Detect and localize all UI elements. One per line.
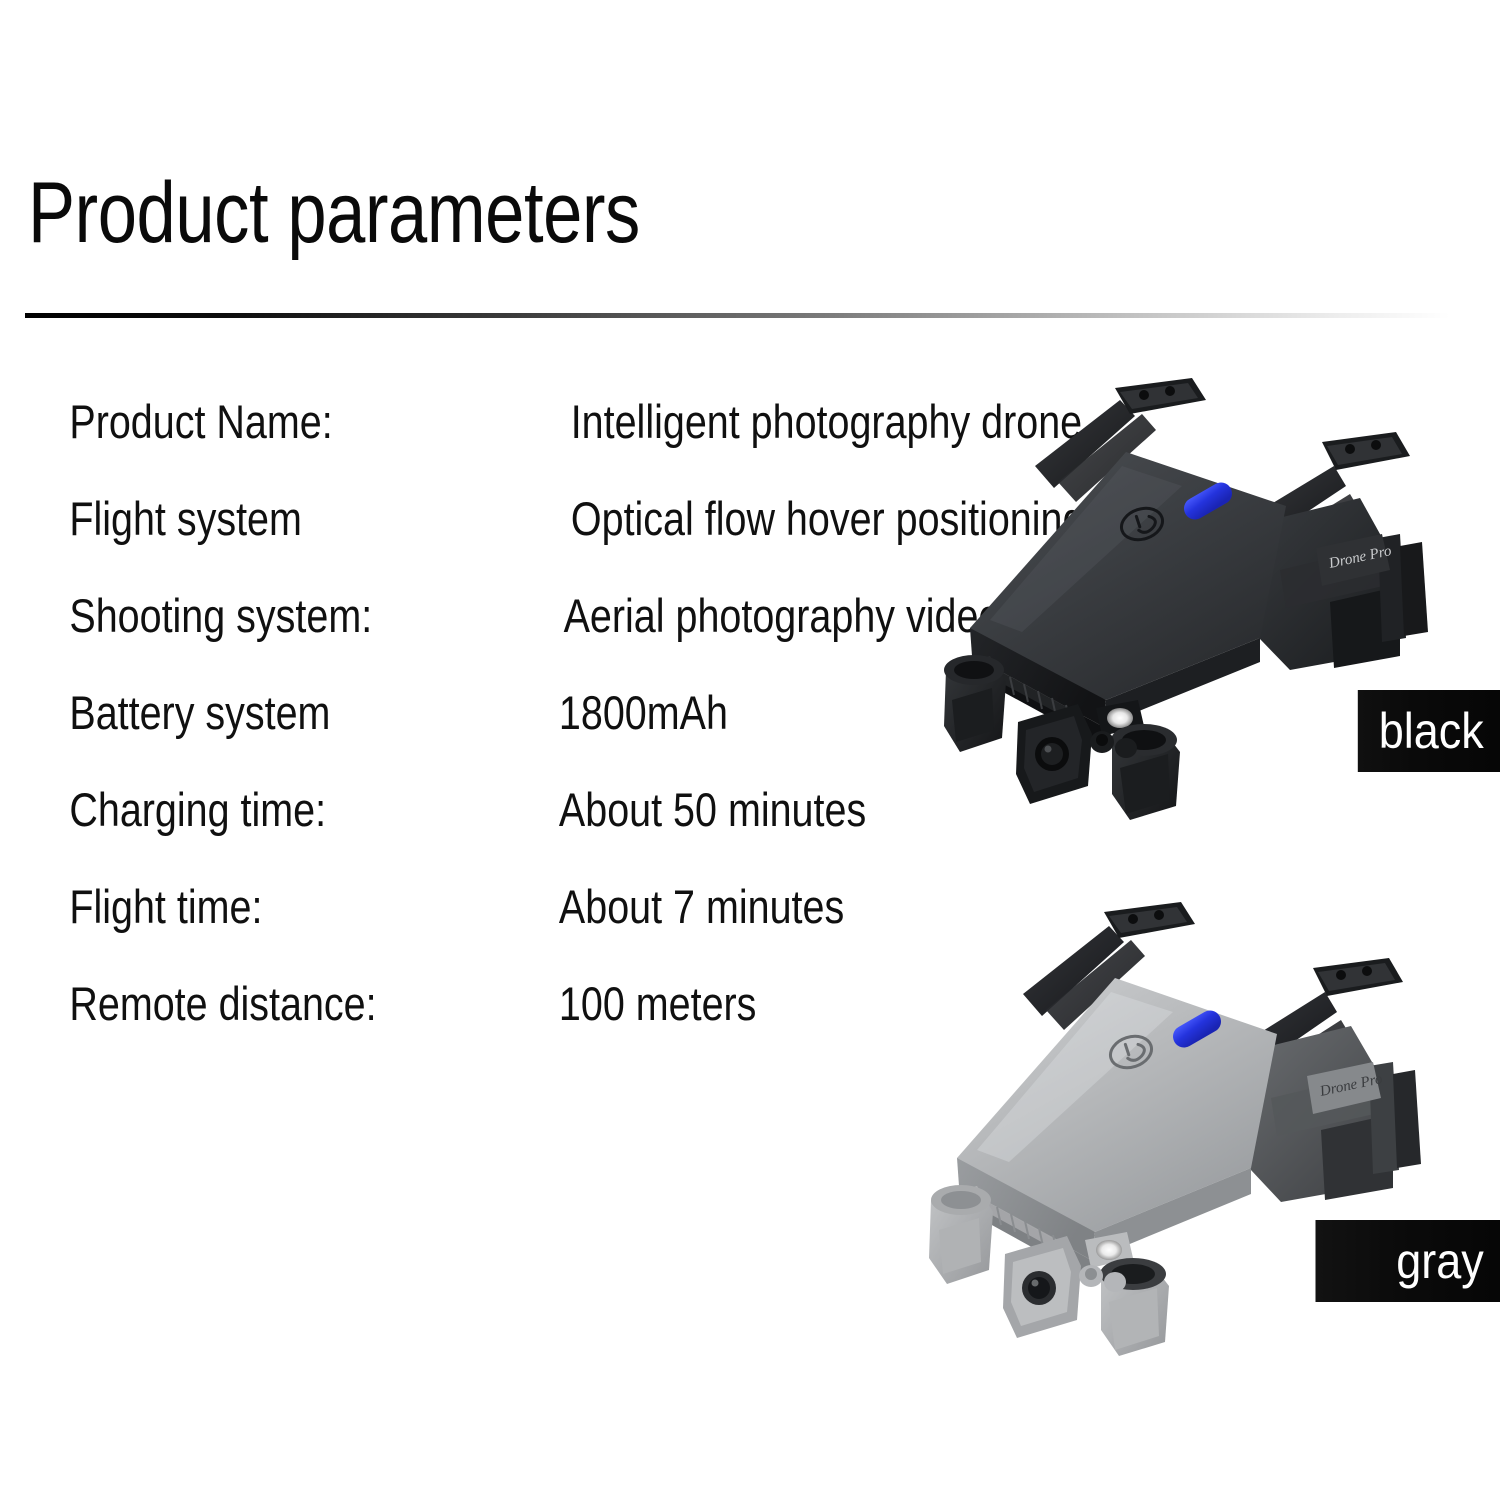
spec-label-shooting-system: Shooting system: <box>69 592 482 639</box>
motor-mount-front <box>1313 958 1403 996</box>
spec-label-charging-time: Charging time: <box>69 786 482 833</box>
motor-mount-rear <box>1115 378 1206 414</box>
landing-motor-rear-left <box>1111 724 1180 820</box>
gimbal-camera-module <box>1003 1236 1081 1338</box>
spec-value-battery-system: 1800mAh <box>553 689 879 736</box>
spec-value-charging-time: About 50 minutes <box>553 786 879 833</box>
color-badge-gray-label: gray <box>1396 1232 1484 1290</box>
spec-label-flight-system: Flight system <box>69 495 482 542</box>
spec-label-battery-system: Battery system <box>69 689 482 736</box>
table-row: Battery system 1800mAh <box>30 689 910 786</box>
table-row: Flight system Optical flow hover positio… <box>30 495 910 592</box>
color-badge-black-label: black <box>1379 702 1484 760</box>
spec-value-flight-time: About 7 minutes <box>553 883 879 930</box>
motor-mount-rear <box>1104 902 1195 938</box>
table-row: Shooting system: Aerial photography vide… <box>30 592 910 689</box>
table-row: Flight time: About 7 minutes <box>30 883 910 980</box>
gimbal-camera-module <box>1016 704 1092 804</box>
table-row: Charging time: About 50 minutes <box>30 786 910 883</box>
spec-label-flight-time: Flight time: <box>69 883 482 930</box>
page-title: Product parameters <box>28 168 640 259</box>
motor-mount-front <box>1322 432 1410 470</box>
spec-label-remote-distance: Remote distance: <box>69 980 482 1027</box>
color-badge-gray: gray <box>1316 1220 1500 1302</box>
landing-motor-front-left <box>944 655 1006 752</box>
drone-body-black: Drone Pro <box>944 378 1428 820</box>
product-parameters-table: Product Name: Intelligent photography dr… <box>30 398 910 1077</box>
table-row: Product Name: Intelligent photography dr… <box>30 398 910 495</box>
table-row: Remote distance: 100 meters <box>30 980 910 1077</box>
spec-value-remote-distance: 100 meters <box>553 980 879 1027</box>
spec-label-product-name: Product Name: <box>69 398 482 445</box>
landing-motor-rear-left <box>1100 1258 1169 1356</box>
title-divider <box>25 313 1450 318</box>
color-badge-black: black <box>1358 690 1500 772</box>
landing-motor-front-left <box>929 1185 993 1284</box>
